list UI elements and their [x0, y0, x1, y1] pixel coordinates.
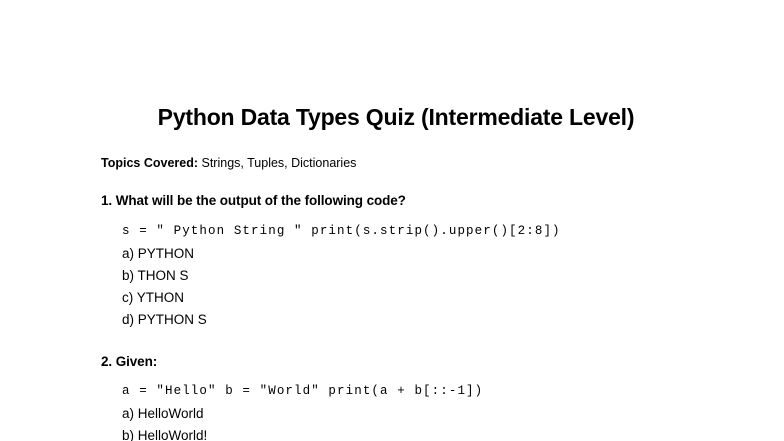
- topics-covered-label: Topics Covered:: [101, 156, 198, 170]
- question-2-heading: 2. Given:: [101, 353, 157, 371]
- question-2-option-a[interactable]: a) HelloWorld: [122, 405, 204, 423]
- question-1-code-block: s = " Python String " print(s.strip().up…: [122, 222, 561, 240]
- question-1-heading: 1. What will be the output of the follow…: [101, 192, 406, 210]
- page-title: Python Data Types Quiz (Intermediate Lev…: [101, 103, 691, 131]
- topics-covered-value: Strings, Tuples, Dictionaries: [198, 156, 356, 170]
- question-1-option-a[interactable]: a) PYTHON: [122, 245, 194, 263]
- question-1-option-b[interactable]: b) THON S: [122, 267, 189, 285]
- question-2-option-b[interactable]: b) HelloWorld!: [122, 427, 207, 441]
- question-1-option-c[interactable]: c) YTHON: [122, 289, 184, 307]
- document-page: Python Data Types Quiz (Intermediate Lev…: [0, 0, 784, 441]
- question-1-option-d[interactable]: d) PYTHON S: [122, 311, 207, 329]
- question-2-code-block: a = "Hello" b = "World" print(a + b[::-1…: [122, 382, 483, 400]
- topics-covered: Topics Covered: Strings, Tuples, Diction…: [101, 155, 356, 171]
